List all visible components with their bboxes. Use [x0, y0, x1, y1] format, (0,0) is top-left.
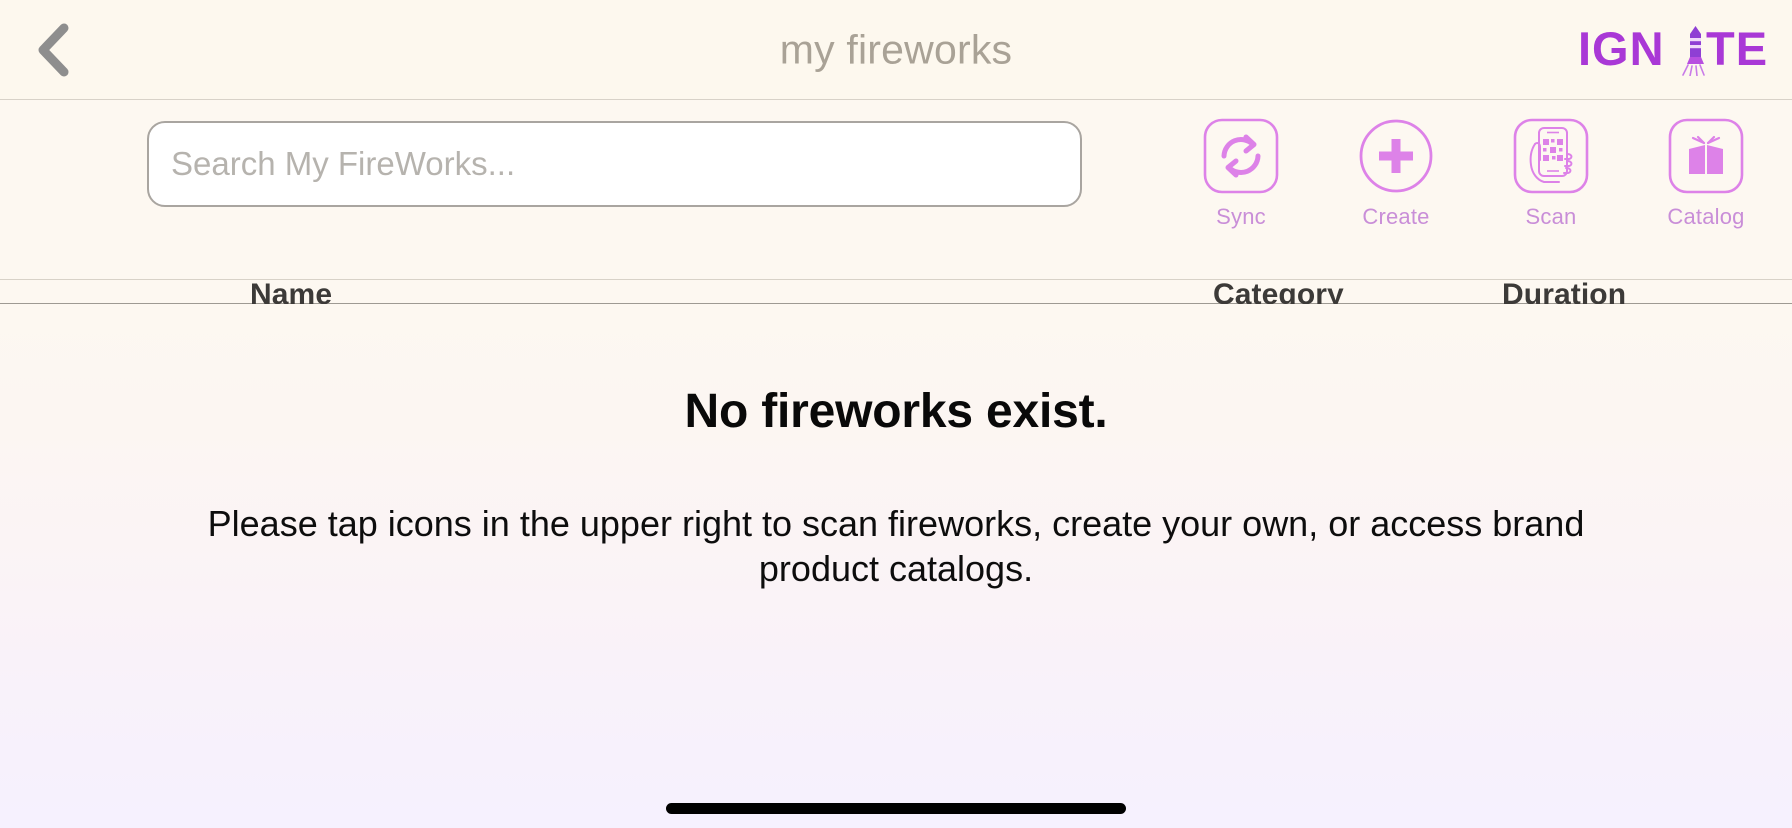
sync-refresh-icon [1201, 116, 1281, 196]
search-field-wrapper [147, 121, 1082, 207]
column-header-row: Name Category Duration [0, 280, 1792, 303]
scan-button[interactable]: Scan [1487, 116, 1615, 230]
scan-label: Scan [1526, 204, 1577, 230]
action-buttons: Sync Create [1177, 116, 1770, 230]
create-button[interactable]: Create [1332, 116, 1460, 230]
search-input[interactable] [147, 121, 1082, 207]
home-indicator[interactable] [666, 803, 1126, 814]
sync-button[interactable]: Sync [1177, 116, 1305, 230]
firework-rocket-icon [1683, 26, 1704, 76]
catalog-label: Catalog [1667, 204, 1744, 230]
title-bar: my fireworks IGN [0, 0, 1792, 100]
catalog-button[interactable]: Catalog [1642, 116, 1770, 230]
empty-state: No fireworks exist. Please tap icons in … [166, 386, 1626, 591]
plus-circle-icon [1356, 116, 1436, 196]
page-title: my fireworks [0, 26, 1792, 73]
toolbar: Sync Create [0, 100, 1792, 280]
svg-text:IGN: IGN [1578, 24, 1665, 75]
svg-text:TE: TE [1706, 24, 1766, 75]
create-label: Create [1362, 204, 1429, 230]
app-root: my fireworks IGN [0, 0, 1792, 828]
open-book-icon [1666, 116, 1746, 196]
empty-state-message: Please tap icons in the upper right to s… [166, 501, 1626, 591]
sync-label: Sync [1216, 204, 1266, 230]
empty-state-title: No fireworks exist. [166, 386, 1626, 439]
fireworks-list-area: No fireworks exist. Please tap icons in … [0, 304, 1792, 828]
hand-phone-qr-scan-icon [1511, 116, 1591, 196]
ignite-logo: IGN TE [1578, 25, 1766, 75]
